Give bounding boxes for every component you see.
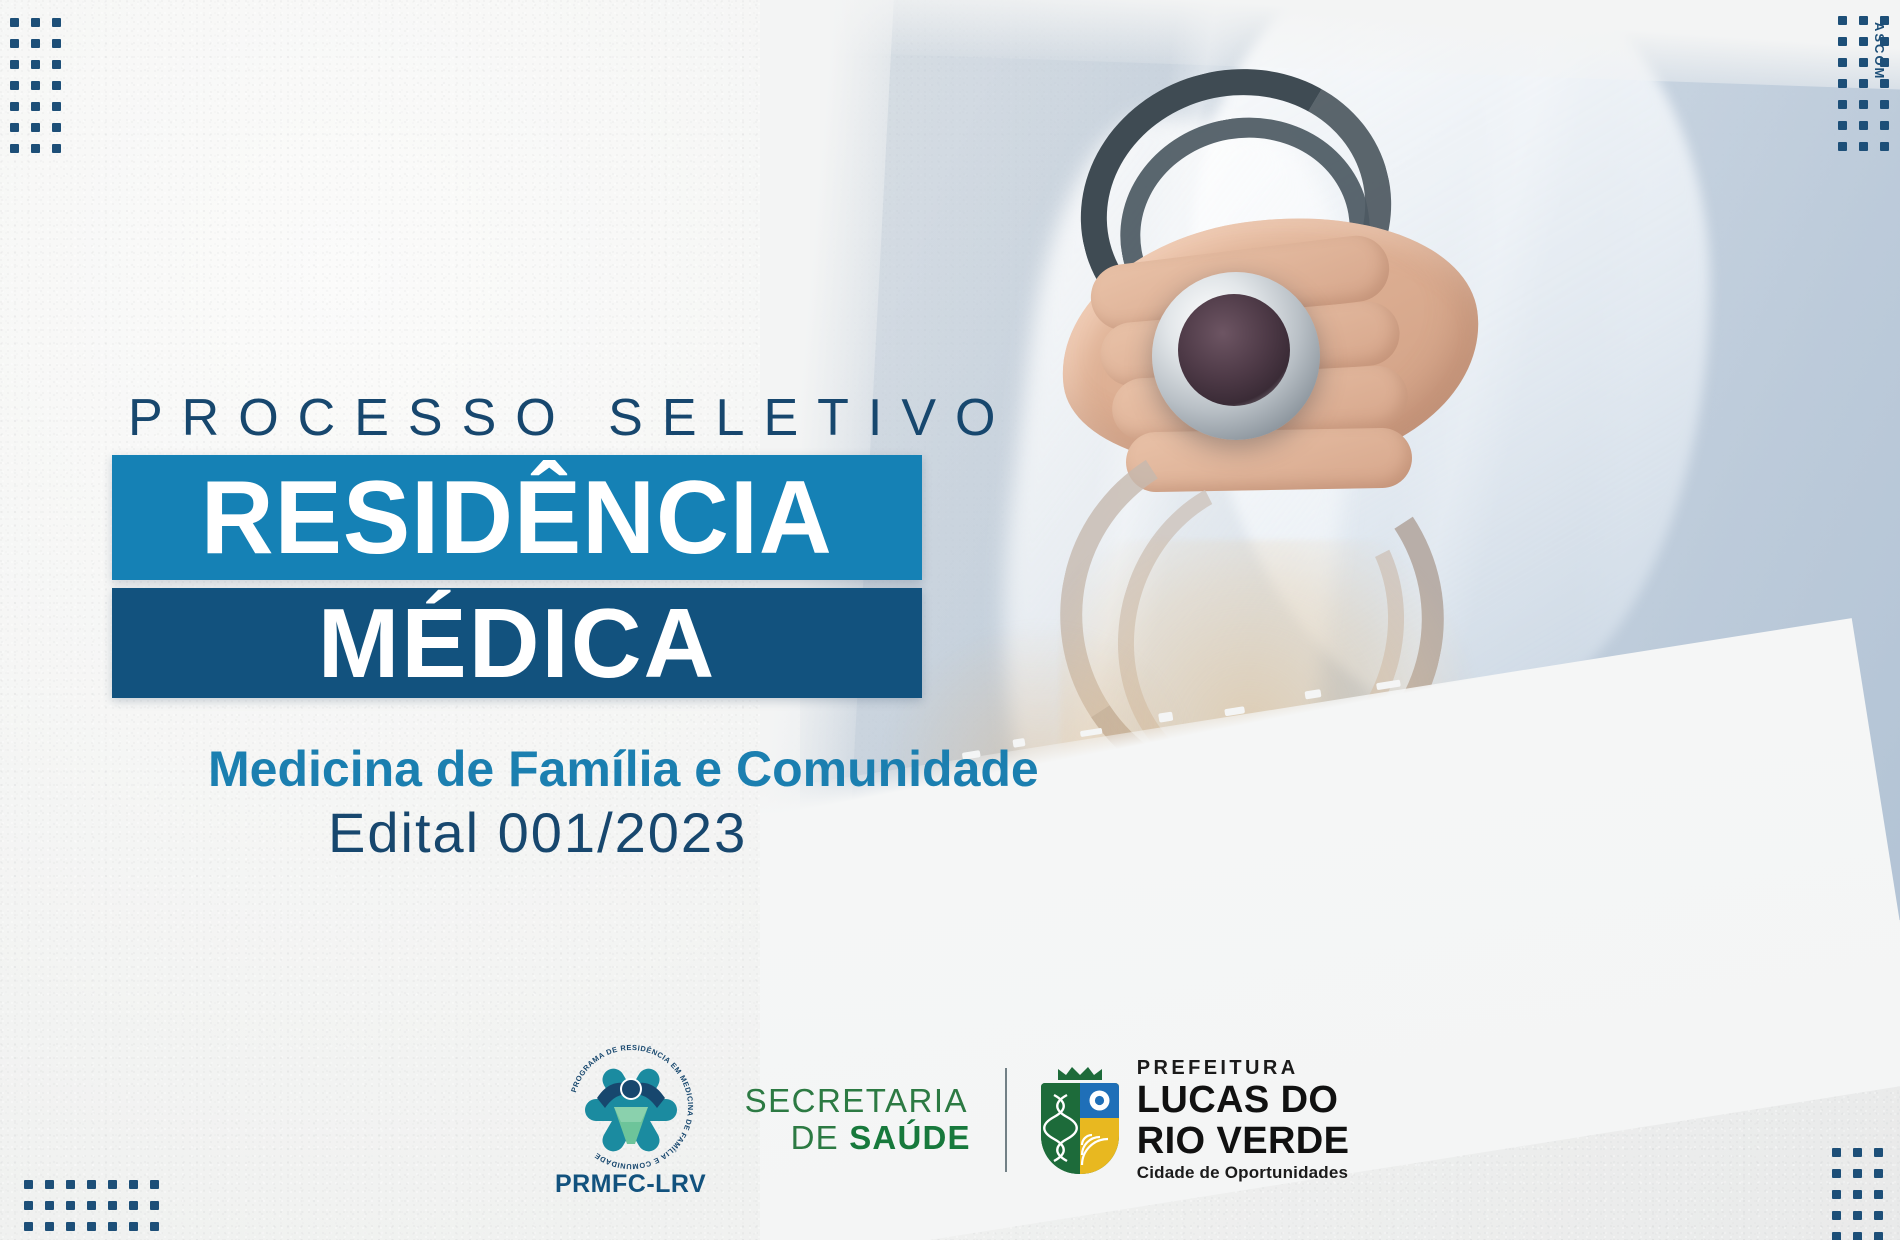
- prefeitura-kicker: PREFEITURA: [1137, 1058, 1350, 1078]
- kicker-processo-seletivo: PROCESSO SELETIVO: [128, 388, 1015, 448]
- logo-prefeitura: PREFEITURA LUCAS DO RIO VERDE Cidade de …: [1041, 1058, 1350, 1181]
- coat-of-arms: [1041, 1066, 1119, 1174]
- secretaria-saude: SAÚDE: [849, 1119, 971, 1156]
- dna-helix-icon: [1041, 1083, 1080, 1174]
- logo-prmfc-lrv: PROGRAMA DE RESIDÊNCIA EM MEDICINA DE FA…: [551, 1040, 711, 1200]
- title-text-medica: MÉDICA: [318, 594, 717, 692]
- logo-secretaria-saude: SECRETARIA DE SAÚDE: [745, 1083, 971, 1157]
- sun-rays-icon: [1080, 1083, 1119, 1174]
- prefeitura-tagline: Cidade de Oportunidades: [1137, 1164, 1350, 1181]
- secretaria-line-2: DE SAÚDE: [745, 1120, 971, 1157]
- shield-shape: [1041, 1083, 1119, 1174]
- secretaria-line-1: SECRETARIA: [745, 1083, 971, 1120]
- title-text-residencia: RESIDÊNCIA: [201, 466, 833, 570]
- subtitle-edital: Edital 001/2023: [328, 800, 747, 865]
- prefeitura-name-line-2: RIO VERDE: [1137, 1122, 1350, 1161]
- shield-right-gold: [1080, 1083, 1119, 1174]
- title-band-residencia: RESIDÊNCIA: [112, 455, 922, 580]
- dot-grid-top-left: [10, 18, 61, 153]
- crown-icon: [1057, 1066, 1103, 1081]
- prefeitura-name-line-1: LUCAS DO: [1137, 1081, 1350, 1120]
- poster-root: ASCOM PROCESSO SELETIVO RESIDÊNCIA MÉDIC…: [0, 0, 1900, 1240]
- footer-logo-row: PROGRAMA DE RESIDÊNCIA EM MEDICINA DE FA…: [0, 1040, 1900, 1200]
- stethoscope-chestpiece: [1152, 272, 1320, 440]
- secretaria-de: DE: [791, 1119, 850, 1156]
- prmfc-acronym: PRMFC-LRV: [555, 1170, 706, 1199]
- prmfc-emblem: PROGRAMA DE RESIDÊNCIA EM MEDICINA DE FA…: [564, 1040, 698, 1174]
- ascom-credit-label: ASCOM: [1872, 22, 1887, 80]
- shield-left-green: [1041, 1083, 1080, 1174]
- prmfc-ring-text: PROGRAMA DE RESIDÊNCIA EM MEDICINA DE FA…: [564, 1040, 698, 1174]
- logo-divider: [1005, 1068, 1007, 1172]
- prefeitura-text: PREFEITURA LUCAS DO RIO VERDE Cidade de …: [1137, 1058, 1350, 1181]
- subtitle-specialty: Medicina de Família e Comunidade: [208, 740, 1039, 798]
- svg-text:PROGRAMA DE RESIDÊNCIA EM MEDI: PROGRAMA DE RESIDÊNCIA EM MEDICINA DE FA…: [569, 1043, 695, 1171]
- title-band-medica: MÉDICA: [112, 588, 922, 698]
- prmfc-ring-text-path: PROGRAMA DE RESIDÊNCIA EM MEDICINA DE FA…: [569, 1043, 695, 1171]
